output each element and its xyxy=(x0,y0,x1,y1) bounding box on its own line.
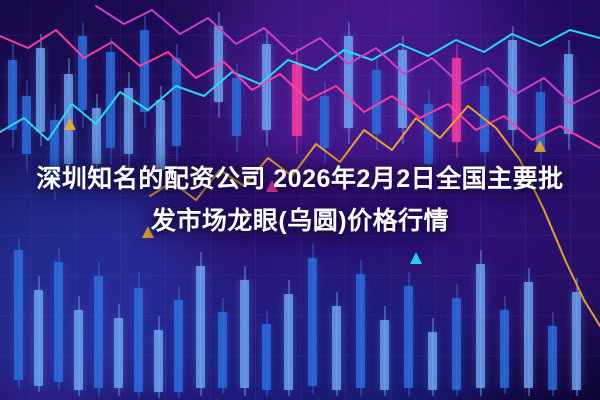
triangle-marker-4 xyxy=(410,252,422,264)
page-title: 深圳知名的配资公司 2026年2月2日全国主要批 发市场龙眼(乌圆)价格行情 xyxy=(0,158,600,242)
triangle-marker-1 xyxy=(64,118,76,130)
page-title-line-1: 深圳知名的配资公司 2026年2月2日全国主要批 xyxy=(0,158,600,200)
chart-background-image: 深圳知名的配资公司 2026年2月2日全国主要批 发市场龙眼(乌圆)价格行情 xyxy=(0,0,600,400)
page-title-line-2: 发市场龙眼(乌圆)价格行情 xyxy=(0,200,600,242)
triangle-marker-5 xyxy=(534,140,546,152)
